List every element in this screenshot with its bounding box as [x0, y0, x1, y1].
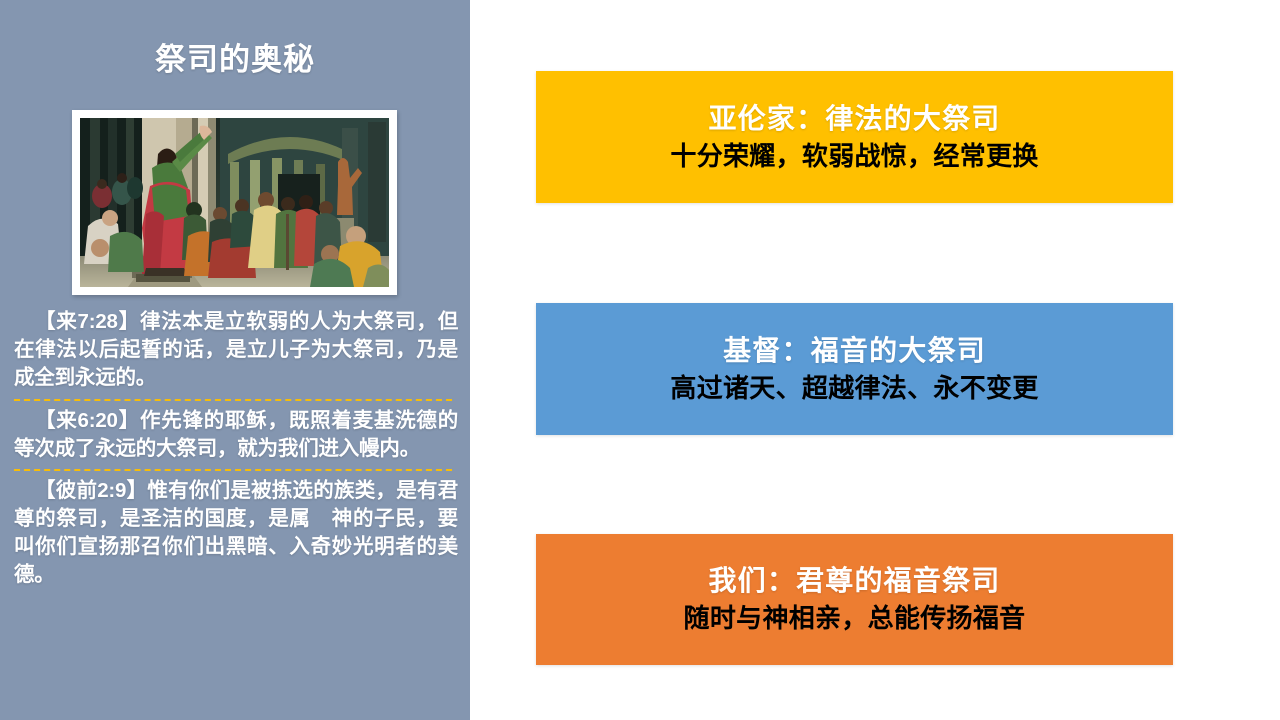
picture-frame — [72, 110, 397, 295]
concept-box-us-subtext: 随时与神相亲，总能传扬福音 — [684, 602, 1026, 636]
scripture-verse-heb-7-28: 【来7:28】律法本是立软弱的人为大祭司，但在律法以后起誓的话，是立儿子为大祭司… — [14, 308, 458, 392]
scripture-list: 【来7:28】律法本是立软弱的人为大祭司，但在律法以后起誓的话，是立儿子为大祭司… — [0, 308, 470, 589]
slide-root: 祭司的奥秘 — [0, 0, 1280, 720]
concept-box-aaron-heading: 亚伦家：律法的大祭司 — [708, 101, 1000, 136]
page-title: 祭司的奥秘 — [0, 42, 470, 78]
concept-box-aaron: 亚伦家：律法的大祭司 十分荣耀，软弱战惊，经常更换 — [536, 71, 1173, 203]
concept-box-christ-subtext: 高过诸天、超越律法、永不变更 — [670, 372, 1038, 406]
concept-box-us: 我们：君尊的福音祭司 随时与神相亲，总能传扬福音 — [536, 534, 1173, 665]
saint-paul-preaching-in-athens-painting — [80, 118, 389, 287]
scripture-verse-1pet-2-9: 【彼前2:9】惟有你们是被拣选的族类，是有君尊的祭司，是圣洁的国度，是属 神的子… — [14, 477, 458, 589]
concept-box-aaron-subtext: 十分荣耀，软弱战惊，经常更换 — [670, 140, 1038, 174]
concept-box-us-heading: 我们：君尊的福音祭司 — [708, 563, 1000, 598]
left-panel: 祭司的奥秘 — [0, 0, 470, 720]
scripture-verse-heb-6-20: 【来6:20】作先锋的耶稣，既照着麦基洗德的等次成了永远的大祭司，就为我们进入幔… — [14, 407, 458, 463]
concept-box-christ: 基督：福音的大祭司 高过诸天、超越律法、永不变更 — [536, 303, 1173, 435]
scripture-divider — [14, 399, 452, 401]
concept-box-christ-heading: 基督：福音的大祭司 — [723, 333, 986, 368]
scripture-divider — [14, 469, 452, 471]
